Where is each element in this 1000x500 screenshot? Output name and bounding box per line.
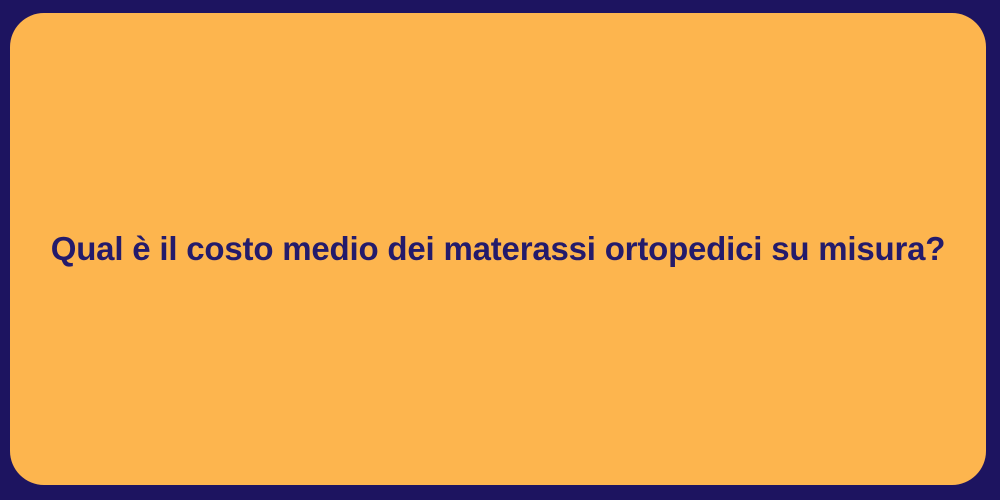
question-card-panel: Qual è il costo medio dei materassi orto… <box>10 13 986 485</box>
question-card-frame: Qual è il costo medio dei materassi orto… <box>0 0 1000 500</box>
question-heading: Qual è il costo medio dei materassi orto… <box>51 228 946 269</box>
